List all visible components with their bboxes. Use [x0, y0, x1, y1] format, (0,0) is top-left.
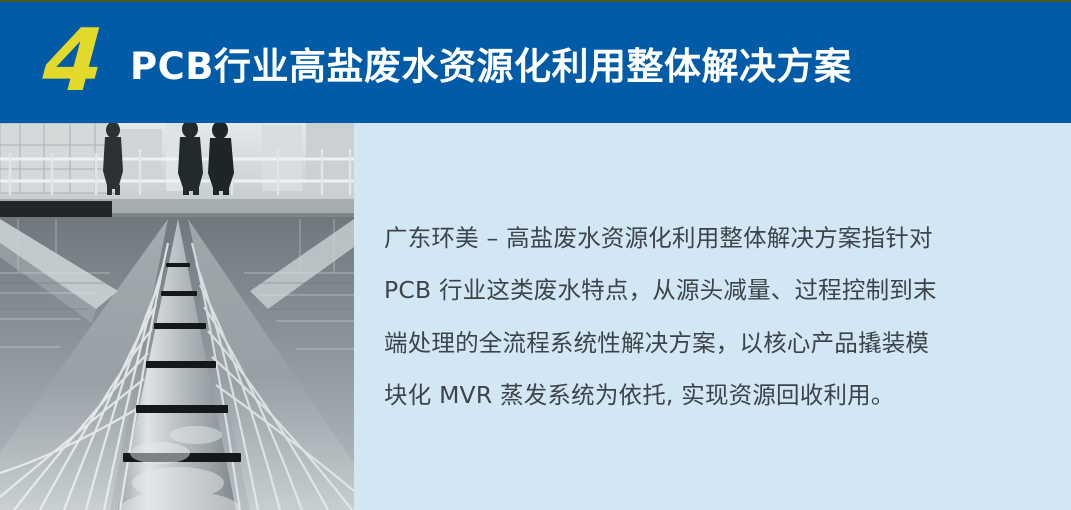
page-title: PCB行业高盐废水资源化利用整体解决方案	[130, 36, 851, 90]
section-header-bar: 4 PCB行业高盐废水资源化利用整体解决方案	[0, 2, 1071, 123]
content-panel: 广东环美 – 高盐废水资源化利用整体解决方案指针对 PCB 行业这类废水特点，从…	[0, 123, 1071, 510]
solution-banner-card: 4 PCB行业高盐废水资源化利用整体解决方案	[0, 0, 1071, 510]
description-line: 广东环美 – 高盐废水资源化利用整体解决方案指针对	[384, 212, 1024, 265]
description-line: 块化 MVR 蒸发系统为依托, 实现资源回收利用。	[384, 369, 1024, 422]
photo-artwork	[0, 123, 354, 510]
description-line: PCB 行业这类废水特点，从源头减量、过程控制到末	[384, 264, 1024, 317]
wastewater-treatment-plant-photo	[0, 123, 354, 510]
description-line: 端处理的全流程系统性解决方案，以核心产品撬装模	[384, 317, 1024, 370]
section-number: 4	[23, 18, 121, 104]
solution-description: 广东环美 – 高盐废水资源化利用整体解决方案指针对 PCB 行业这类废水特点，从…	[384, 123, 1024, 510]
